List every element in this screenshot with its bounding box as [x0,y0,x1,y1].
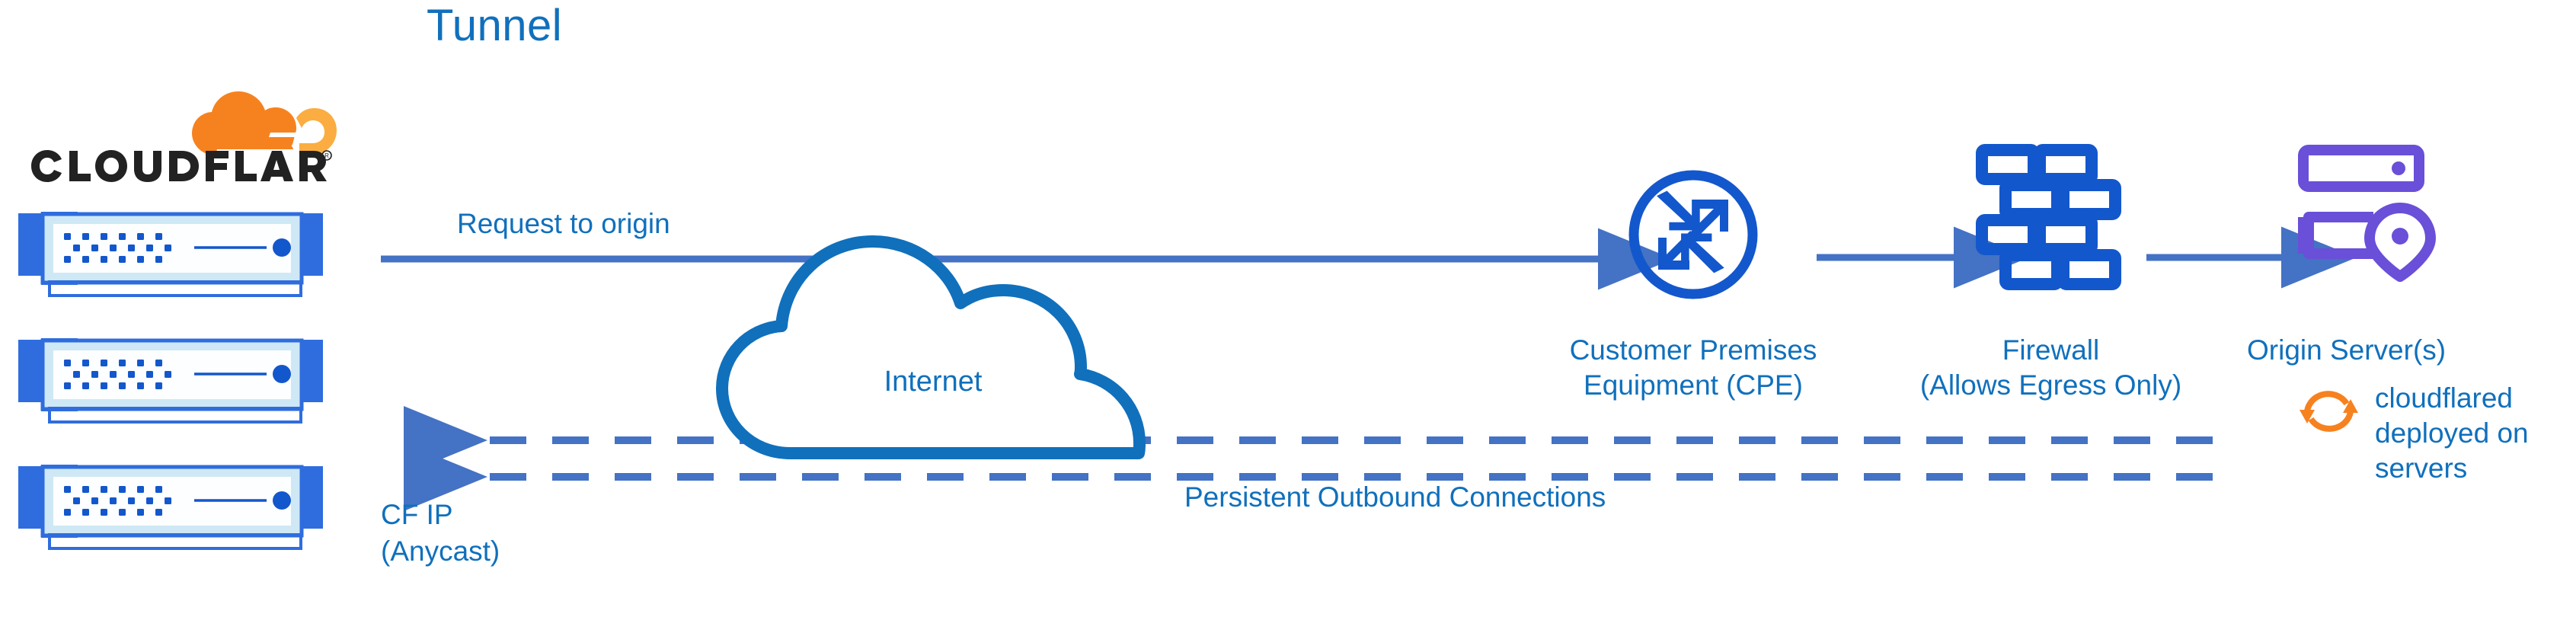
cloudflare-logo: R [26,91,331,187]
cloudflare-wordmark: R [30,149,332,183]
page-title: Tunnel [427,0,562,51]
internet-cloud-icon [708,225,1165,468]
internet-label: Internet [819,366,1047,398]
persistent-outbound-connections-label: Persistent Outbound Connections [1184,481,1606,513]
brick-wall-icon [1973,141,2129,293]
router-converge-arrows-icon [1625,166,1762,303]
sync-arrows-icon [2296,381,2361,442]
firewall-label: Firewall (Allows Egress Only) [1851,333,2251,403]
cf-ip-anycast-label: CF IP (Anycast) [381,497,500,570]
tunnel-diagram: Tunnel R [0,0,2576,617]
cloudflare-cloud-mark [192,91,337,155]
cloudflare-edge-server-unit [8,192,334,305]
cpe-label: Customer Premises Equipment (CPE) [1488,333,1899,403]
cloudflare-edge-server-unit [8,445,334,558]
origin-server-label: Origin Server(s) [2247,333,2567,368]
cloudflare-edge-server-unit [8,318,334,431]
cloudflared-label: cloudflared deployed on servers [2375,381,2574,486]
svg-text:R: R [324,152,329,159]
request-to-origin-label: Request to origin [457,208,670,240]
server-location-pin-icon [2294,141,2439,282]
